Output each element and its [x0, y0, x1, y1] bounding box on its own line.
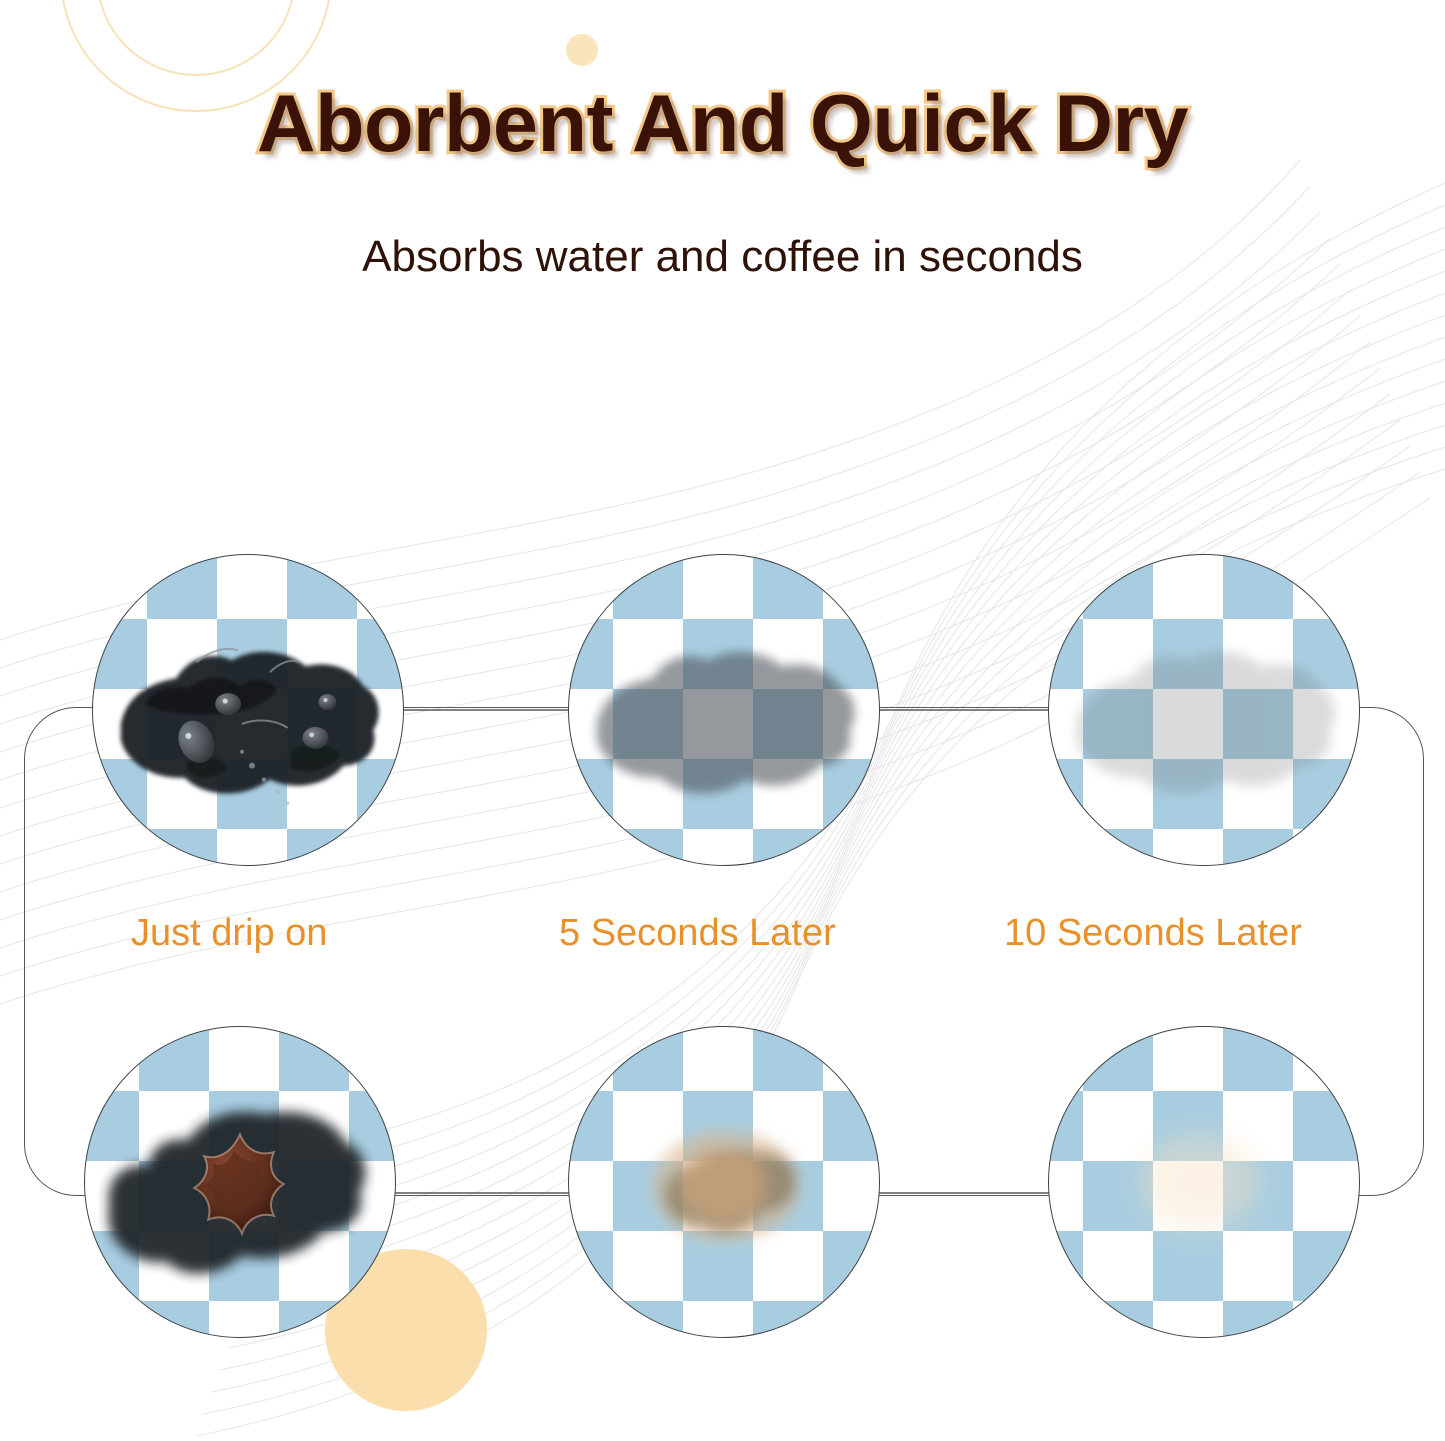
demo-circle-coffee-drip-on: [84, 1026, 396, 1338]
page-title: Aborbent And Quick Dry: [0, 78, 1445, 171]
demo-circle-coffee-5-seconds: [568, 1026, 880, 1338]
demo-circle-water-5-seconds: [568, 554, 880, 866]
coffee-stain-partial: [569, 1027, 879, 1337]
demo-circle-water-10-seconds: [1048, 554, 1360, 866]
demo-circle-coffee-10-seconds: [1048, 1026, 1360, 1338]
step-label-2: 5 Seconds Later: [559, 912, 836, 955]
decorative-dot-small-icon: [566, 34, 598, 66]
coffee-stain-cleared: [1049, 1027, 1359, 1337]
page-subtitle: Absorbs water and coffee in seconds: [0, 232, 1445, 282]
page-subtitle-text: Absorbs water and coffee in seconds: [362, 232, 1083, 281]
water-stain-partial: [569, 555, 879, 865]
step-label-3: 10 Seconds Later: [1004, 912, 1302, 955]
step-label-1: Just drip on: [131, 912, 327, 955]
page-title-text: Aborbent And Quick Dry: [257, 78, 1188, 171]
coffee-stain-fresh: [85, 1027, 395, 1337]
demo-circle-water-drip-on: [92, 554, 404, 866]
water-stain-fresh: [93, 555, 403, 865]
water-stain-faded: [1049, 555, 1359, 865]
infographic-canvas: Aborbent And Quick Dry Absorbs water and…: [0, 0, 1445, 1441]
